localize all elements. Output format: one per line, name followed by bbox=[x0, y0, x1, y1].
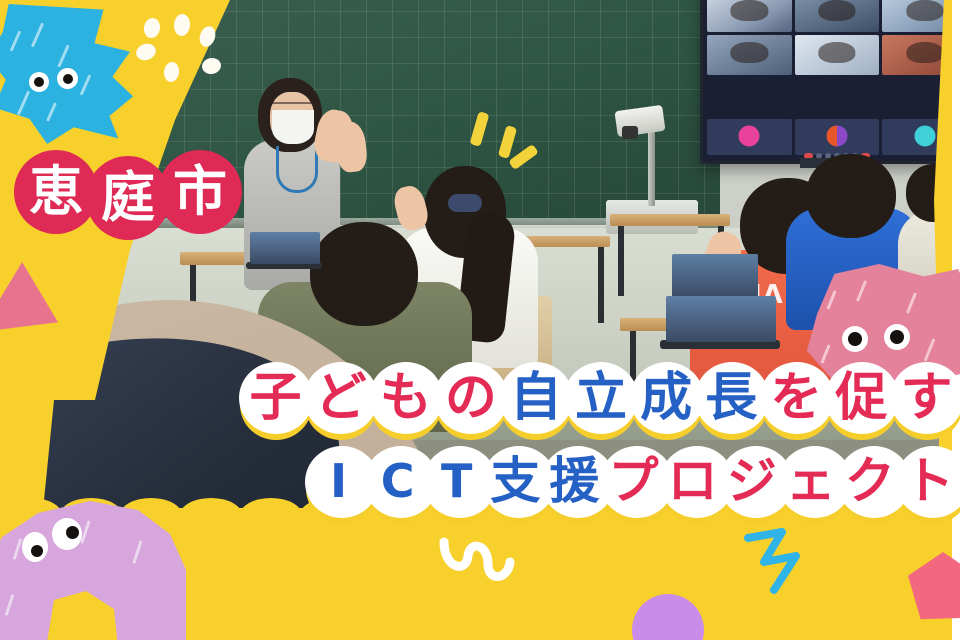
title-char-glyph: ど bbox=[315, 372, 367, 424]
title-char: プ bbox=[597, 442, 669, 520]
desk bbox=[610, 214, 730, 226]
desk-leg bbox=[598, 247, 604, 323]
banner-canvas: JAP bbox=[0, 0, 960, 640]
title-char: ジ bbox=[716, 442, 788, 520]
title-char-glyph: ト bbox=[904, 456, 954, 506]
cyan-blob-eye bbox=[57, 68, 78, 89]
title-line-1: 子どもの自立成長を促す bbox=[236, 358, 952, 438]
title-char-glyph: も bbox=[380, 372, 432, 424]
title-line-2: ICT支援プロジェクト bbox=[236, 442, 952, 520]
title-char-glyph: ク bbox=[845, 456, 895, 506]
title-char-glyph: ェ bbox=[786, 456, 836, 506]
title-char-glyph: ジ bbox=[727, 456, 777, 506]
title-char-glyph: 援 bbox=[549, 456, 599, 506]
title-char-glyph: C bbox=[381, 458, 414, 504]
lilac-blob-eye bbox=[52, 518, 82, 550]
laptop-screen bbox=[250, 232, 320, 264]
desk-leg bbox=[618, 226, 624, 296]
title-char-glyph: I bbox=[330, 458, 346, 504]
pink-blob-eye bbox=[842, 326, 868, 352]
title-char-glyph: を bbox=[770, 372, 822, 424]
title-char-glyph: す bbox=[900, 372, 952, 424]
cyan-blob-eye bbox=[29, 72, 49, 92]
laptop-screen bbox=[666, 296, 776, 342]
title-char: ロ bbox=[657, 442, 729, 520]
title-char-glyph: 成 bbox=[640, 372, 692, 424]
title-char: ト bbox=[893, 442, 960, 520]
video-tile bbox=[707, 35, 792, 74]
city-badge-char: 市 bbox=[158, 150, 242, 234]
wall-monitor bbox=[700, 0, 960, 164]
city-badge-char: 庭 bbox=[86, 156, 170, 240]
video-tile bbox=[707, 0, 792, 32]
blue-zigzag bbox=[742, 528, 838, 602]
title-char-glyph: 支 bbox=[490, 456, 540, 506]
video-tile bbox=[795, 35, 880, 74]
video-tile bbox=[795, 0, 880, 32]
title-char-glyph: の bbox=[445, 372, 497, 424]
white-dot-burst bbox=[122, 14, 230, 98]
main-title: 子どもの自立成長を促す ICT支援プロジェクト bbox=[236, 358, 952, 520]
city-badge: 恵 庭 市 bbox=[14, 150, 230, 234]
title-char-glyph: ロ bbox=[668, 456, 718, 506]
title-char-glyph: プ bbox=[609, 456, 659, 506]
video-call-grid bbox=[707, 0, 960, 117]
title-char-glyph: 立 bbox=[575, 372, 627, 424]
white-squiggle bbox=[436, 534, 546, 600]
title-char: す bbox=[887, 358, 960, 438]
document-camera-lens bbox=[622, 126, 638, 139]
pink-blob-eye bbox=[884, 324, 910, 350]
video-avatar-row bbox=[707, 119, 960, 155]
title-char-glyph: 子 bbox=[250, 372, 302, 424]
title-char-glyph: 自 bbox=[510, 372, 562, 424]
video-avatar-tile bbox=[707, 119, 792, 155]
video-avatar-tile bbox=[795, 119, 880, 155]
laptop-screen bbox=[672, 254, 758, 298]
title-char-glyph: T bbox=[441, 458, 471, 504]
title-char-glyph: 長 bbox=[705, 372, 757, 424]
lilac-blob-eye bbox=[22, 532, 48, 562]
title-char-glyph: 促 bbox=[835, 372, 887, 424]
